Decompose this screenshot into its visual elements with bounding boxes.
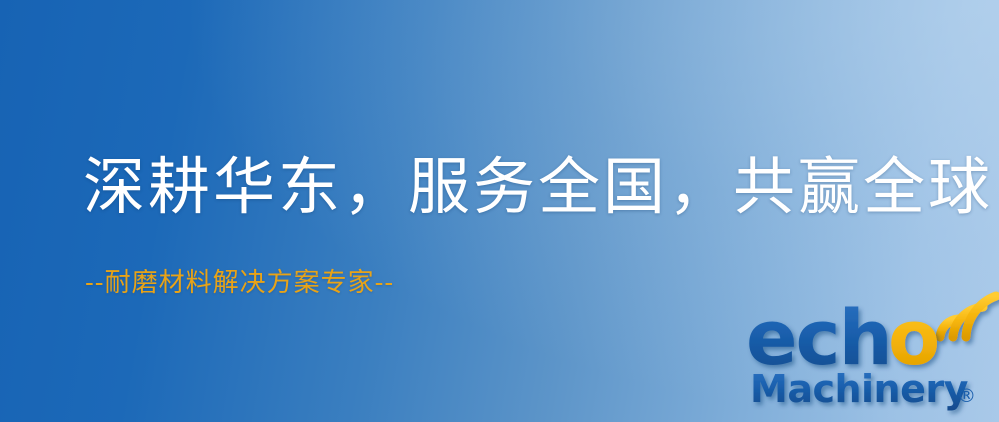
echo-machinery-logo[interactable]: ech o Machinery ® — [742, 292, 999, 422]
echo-wave-arcs-icon — [940, 296, 996, 337]
banner-subtitle: --耐磨材料解决方案专家-- — [85, 266, 394, 300]
logo-text-machinery: Machinery — [750, 367, 969, 411]
hero-banner: 深耕华东，服务全国，共赢全球 --耐磨材料解决方案专家-- — [0, 0, 999, 422]
registered-trademark-icon: ® — [957, 385, 976, 407]
banner-headline: 深耕华东，服务全国，共赢全球 — [83, 148, 993, 226]
